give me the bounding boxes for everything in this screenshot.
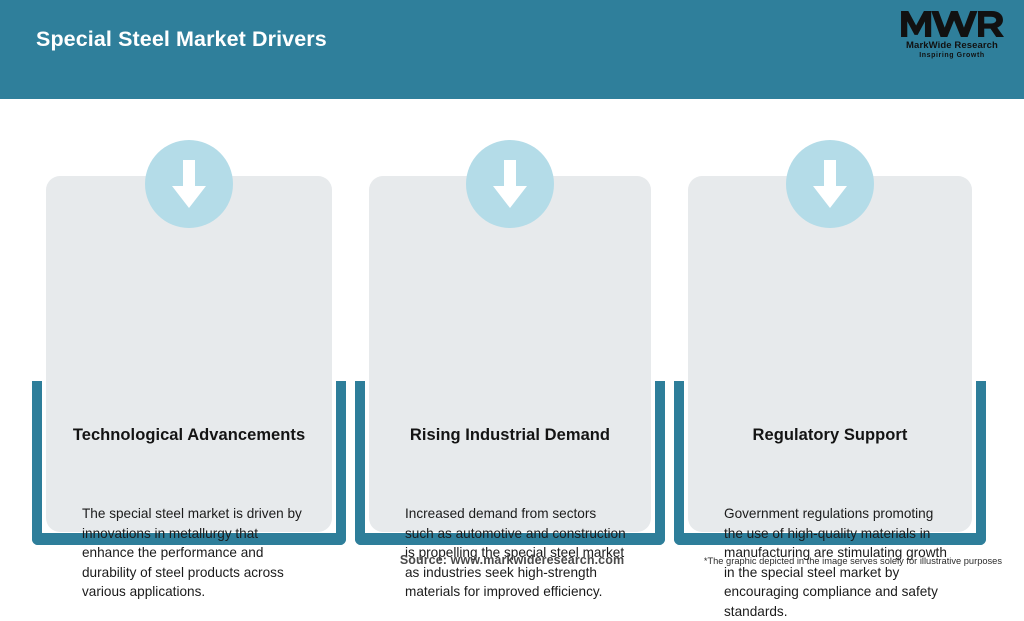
arrow-down-icon: [810, 158, 850, 210]
card-panel-2: Rising Industrial Demand Increased deman…: [369, 176, 651, 532]
card-panel-1: Technological Advancements The special s…: [46, 176, 332, 532]
driver-card-3: Regulatory Support Government regulation…: [674, 0, 986, 576]
footer-disclaimer-text: *The graphic depicted in the image serve…: [704, 556, 1002, 566]
card-icon-circle-3: [786, 140, 874, 228]
card-title-2: Rising Industrial Demand: [379, 426, 641, 445]
card-title-1: Technological Advancements: [56, 426, 322, 445]
arrow-down-icon: [490, 158, 530, 210]
arrow-down-icon: [169, 158, 209, 210]
card-icon-circle-2: [466, 140, 554, 228]
card-panel-3: Regulatory Support Government regulation…: [688, 176, 972, 532]
driver-card-2: Rising Industrial Demand Increased deman…: [355, 0, 665, 576]
drivers-card-row: Technological Advancements The special s…: [0, 0, 1024, 576]
card-title-3: Regulatory Support: [698, 426, 962, 445]
driver-card-1: Technological Advancements The special s…: [32, 0, 346, 576]
card-icon-circle-1: [145, 140, 233, 228]
